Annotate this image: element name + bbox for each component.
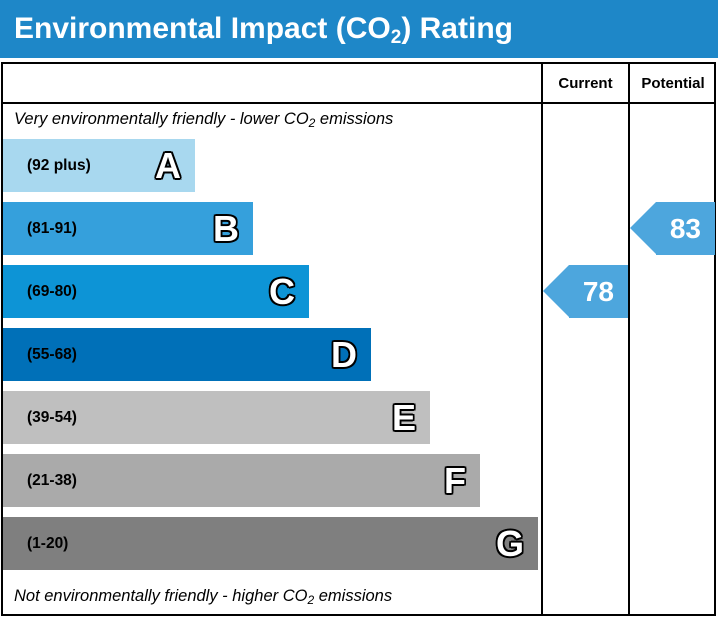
band-a-letter: A — [155, 148, 181, 184]
band-g-letter: G — [496, 526, 524, 562]
band-c-letter: C — [269, 274, 295, 310]
page-title-prefix: Environmental Impact (CO — [14, 12, 391, 45]
header-row-divider — [1, 102, 716, 104]
epc-environmental-impact-chart: Environmental Impact (CO2) Rating Curren… — [0, 0, 718, 619]
band-f: (21-38) F — [3, 454, 480, 507]
band-a: (92 plus) A — [3, 139, 195, 192]
band-e-letter: E — [392, 400, 416, 436]
caption-top-subscript: 2 — [309, 116, 316, 130]
chart-title-bar: Environmental Impact (CO2) Rating — [0, 0, 718, 58]
band-b: (81-91) B — [3, 202, 253, 255]
current-arrow-tip — [543, 265, 569, 317]
current-rating-value: 78 — [583, 276, 614, 308]
band-g: (1-20) G — [3, 517, 538, 570]
caption-bottom-subscript: 2 — [307, 593, 314, 607]
band-d-letter: D — [331, 337, 357, 373]
current-rating-arrow: 78 — [569, 265, 628, 318]
caption-bottom-suffix: emissions — [314, 587, 392, 605]
band-e-range: (39-54) — [27, 409, 77, 427]
caption-bottom-prefix: Not environmentally friendly - higher CO — [14, 587, 307, 605]
caption-top: Very environmentally friendly - lower CO… — [14, 110, 393, 129]
band-d-range: (55-68) — [27, 346, 77, 364]
band-a-range: (92 plus) — [27, 157, 91, 175]
column-divider-potential — [628, 62, 630, 616]
column-header-current: Current — [543, 64, 628, 102]
caption-bottom: Not environmentally friendly - higher CO… — [14, 587, 392, 606]
caption-top-suffix: emissions — [315, 110, 393, 128]
caption-top-prefix: Very environmentally friendly - lower CO — [14, 110, 309, 128]
page-title: Environmental Impact (CO2) Rating — [14, 12, 513, 46]
column-header-potential: Potential — [630, 64, 716, 102]
potential-rating-value: 83 — [670, 213, 701, 245]
band-e: (39-54) E — [3, 391, 430, 444]
column-divider-current — [541, 62, 543, 616]
potential-rating-arrow: 83 — [656, 202, 715, 255]
band-c-range: (69-80) — [27, 283, 77, 301]
band-f-letter: F — [444, 463, 466, 499]
band-f-range: (21-38) — [27, 472, 77, 490]
band-g-range: (1-20) — [27, 535, 68, 553]
potential-arrow-tip — [630, 202, 656, 254]
page-title-subscript: 2 — [391, 27, 402, 48]
page-title-suffix: ) Rating — [401, 12, 513, 45]
band-c: (69-80) C — [3, 265, 309, 318]
band-b-letter: B — [213, 211, 239, 247]
band-d: (55-68) D — [3, 328, 371, 381]
band-b-range: (81-91) — [27, 220, 77, 238]
